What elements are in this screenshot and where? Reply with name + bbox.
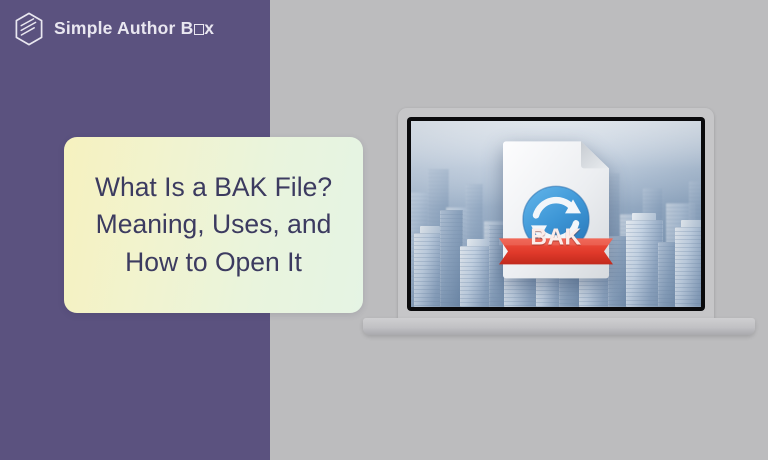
document-folded-corner bbox=[581, 141, 609, 168]
laptop-screen: BAK bbox=[411, 121, 701, 307]
brand-name: Simple Author Bx bbox=[54, 20, 214, 38]
laptop-screen-bezel: BAK bbox=[407, 117, 705, 311]
page-title: What Is a BAK File? Meaning, Uses, and H… bbox=[81, 169, 346, 282]
bak-document-graphic bbox=[497, 137, 615, 279]
missing-glyph-box bbox=[194, 24, 204, 34]
hexagon-layers-icon bbox=[14, 12, 44, 46]
brand-logo[interactable]: Simple Author Bx bbox=[14, 12, 214, 46]
laptop-base bbox=[363, 318, 755, 335]
title-card: What Is a BAK File? Meaning, Uses, and H… bbox=[64, 137, 363, 313]
brand-name-after: x bbox=[204, 18, 214, 38]
bak-file-icon: BAK bbox=[497, 140, 615, 282]
brand-name-before: Simple Author B bbox=[54, 18, 193, 38]
laptop-lid: BAK bbox=[398, 108, 714, 321]
laptop-mockup: BAK bbox=[363, 108, 755, 340]
